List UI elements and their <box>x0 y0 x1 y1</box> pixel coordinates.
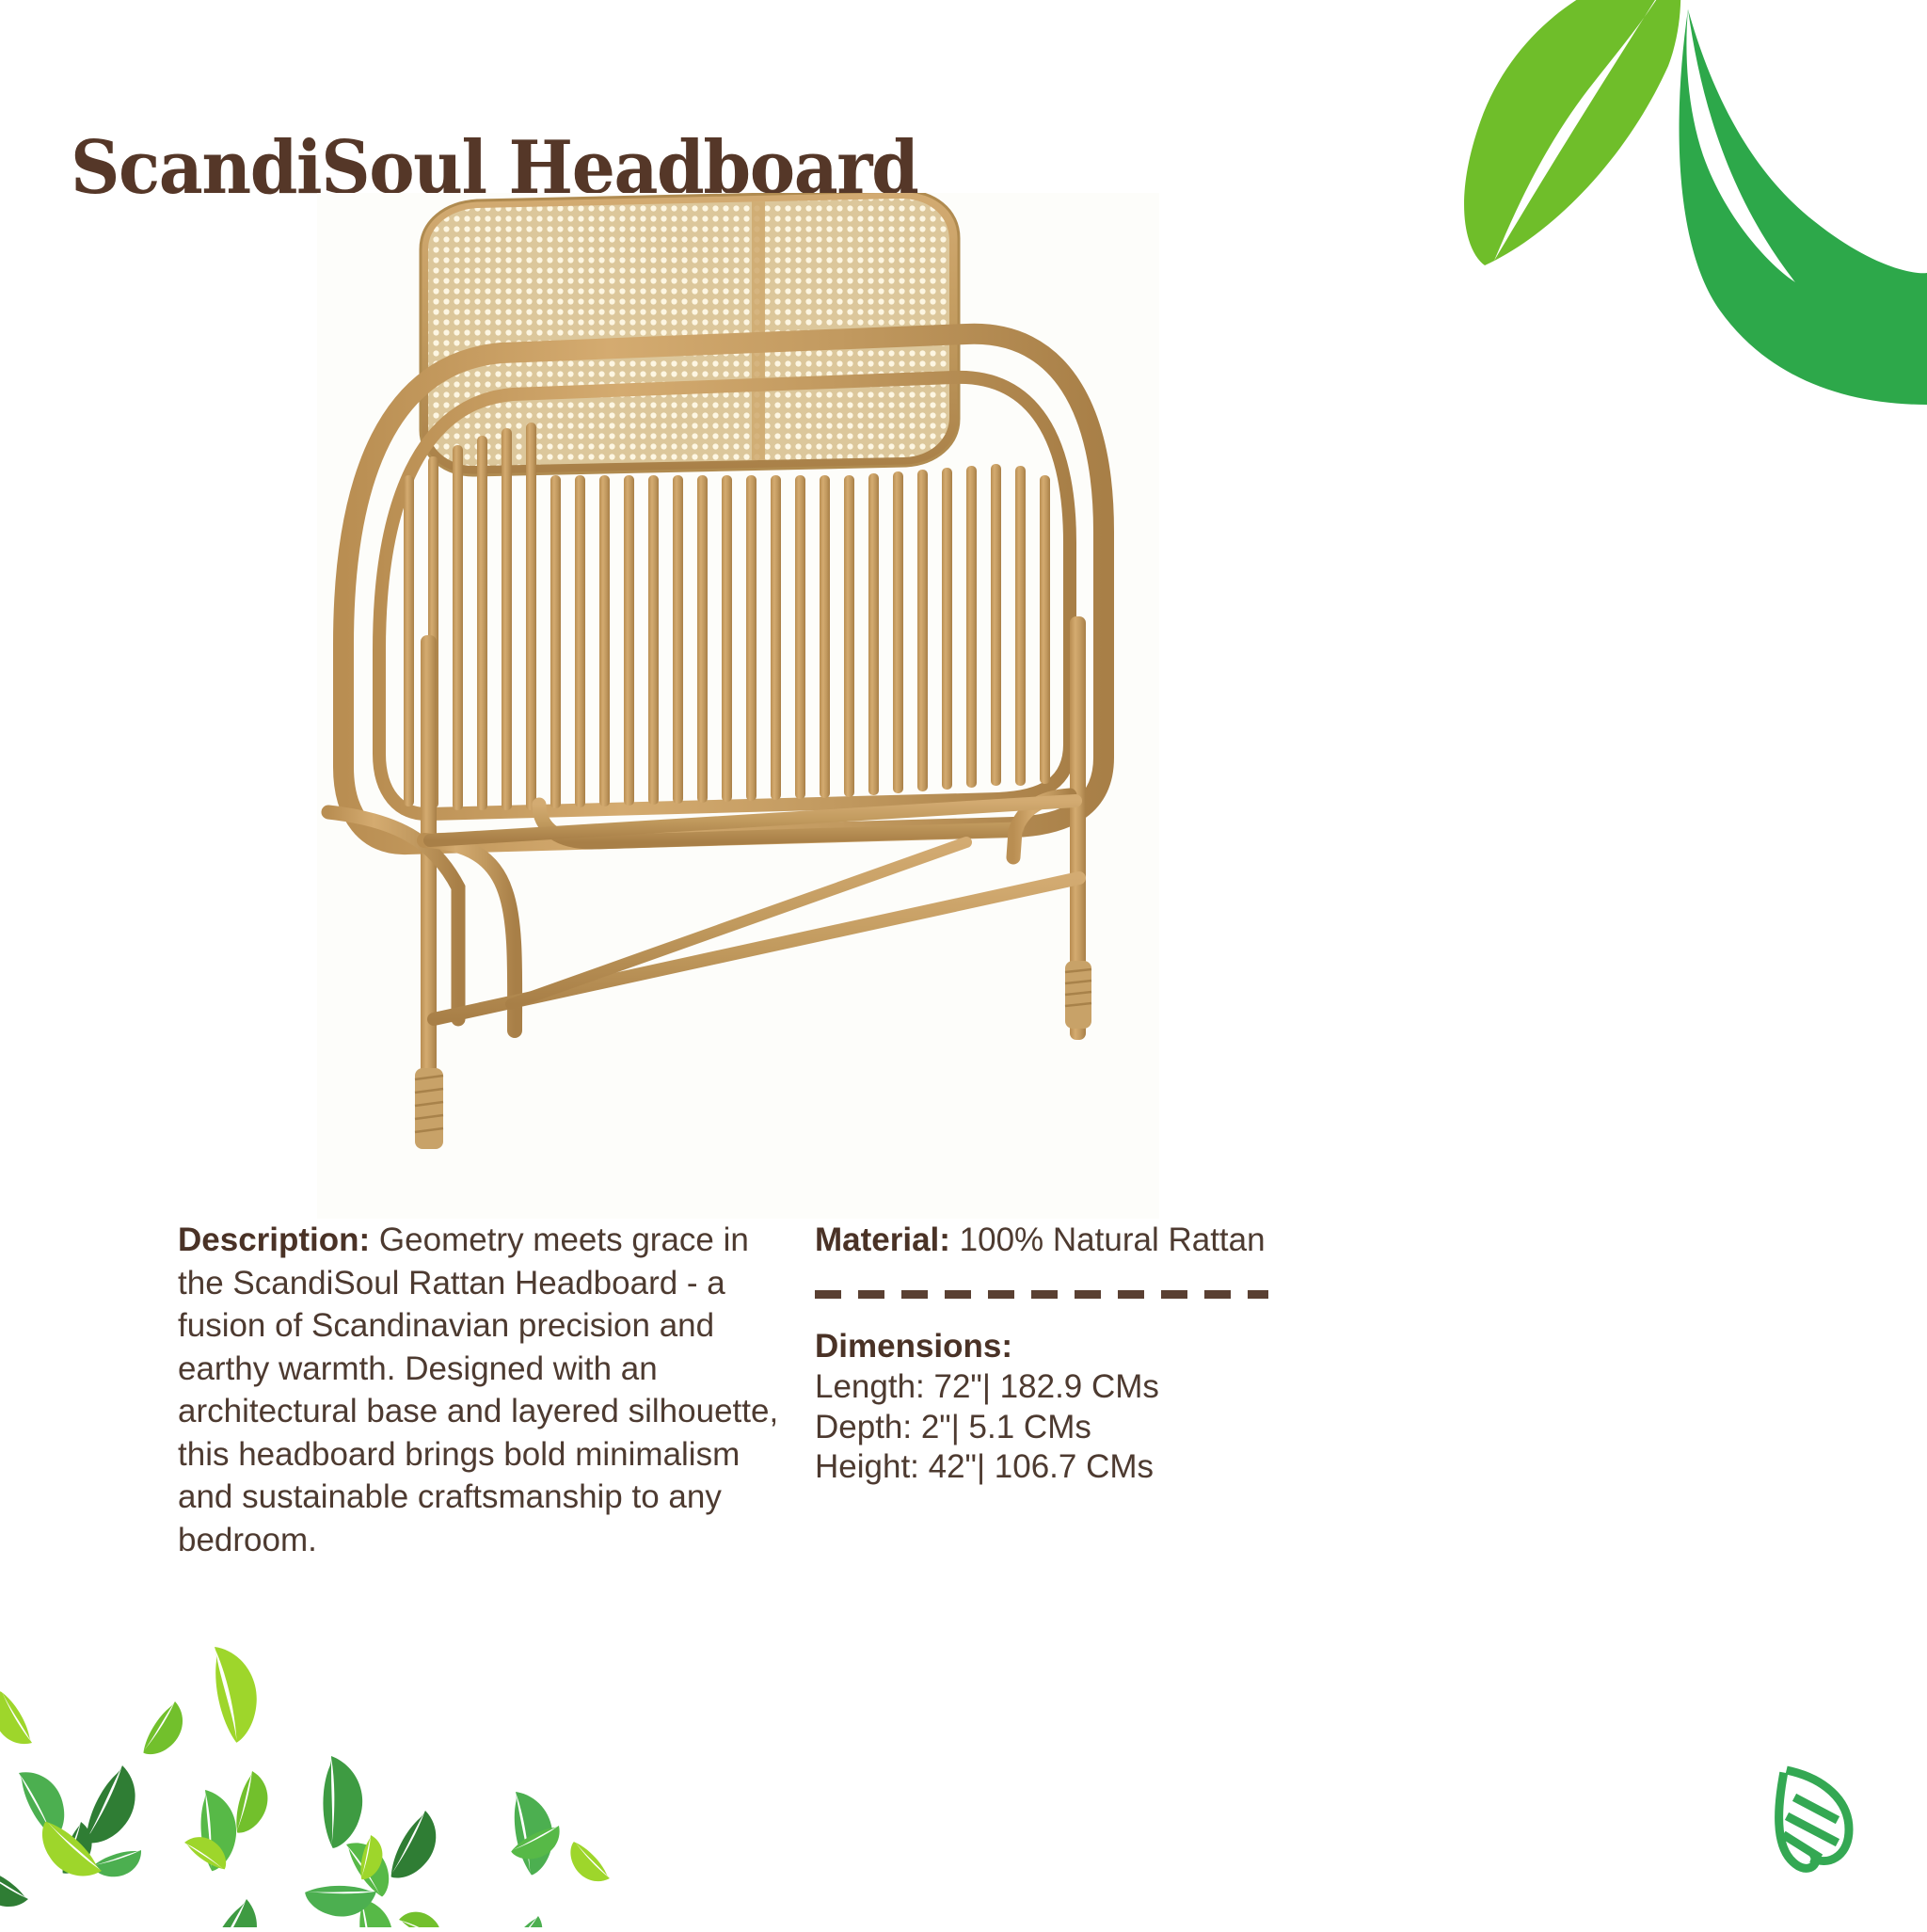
material-row: Material: 100% Natural Rattan <box>815 1219 1285 1262</box>
corner-leaf-decoration <box>1400 0 1927 405</box>
material-value: 100% Natural Rattan <box>950 1221 1266 1258</box>
brand-logo-icon <box>1762 1760 1875 1882</box>
description-body: Geometry meets grace in the ScandiSoul R… <box>178 1221 778 1558</box>
description-block: Description: Geometry meets grace in the… <box>178 1219 789 1561</box>
description-text: Description: Geometry meets grace in the… <box>178 1219 789 1561</box>
specs-block: Material: 100% Natural Rattan Dimensions… <box>815 1219 1285 1488</box>
product-spec-page: ScandiSoul Headboard <box>0 0 1927 1927</box>
product-photo <box>317 193 1159 1219</box>
dimension-depth: Depth: 2"| 5.1 CMs <box>815 1408 1285 1448</box>
material-label: Material: <box>815 1221 950 1258</box>
description-label: Description: <box>178 1221 370 1258</box>
dimensions-label: Dimensions: <box>815 1325 1285 1368</box>
left-foot-wrap <box>415 1068 443 1149</box>
right-foot-wrap <box>1065 961 1091 1029</box>
dark-leaf-icon <box>1680 9 1927 405</box>
light-leaf-icon <box>1464 0 1680 265</box>
leaf-cluster <box>0 1638 613 1927</box>
dimension-length: Length: 72"| 182.9 CMs <box>815 1367 1285 1408</box>
dimension-height: Height: 42"| 106.7 CMs <box>815 1447 1285 1488</box>
scattered-leaves-decoration <box>0 1589 659 1927</box>
dashed-divider <box>815 1290 1268 1299</box>
